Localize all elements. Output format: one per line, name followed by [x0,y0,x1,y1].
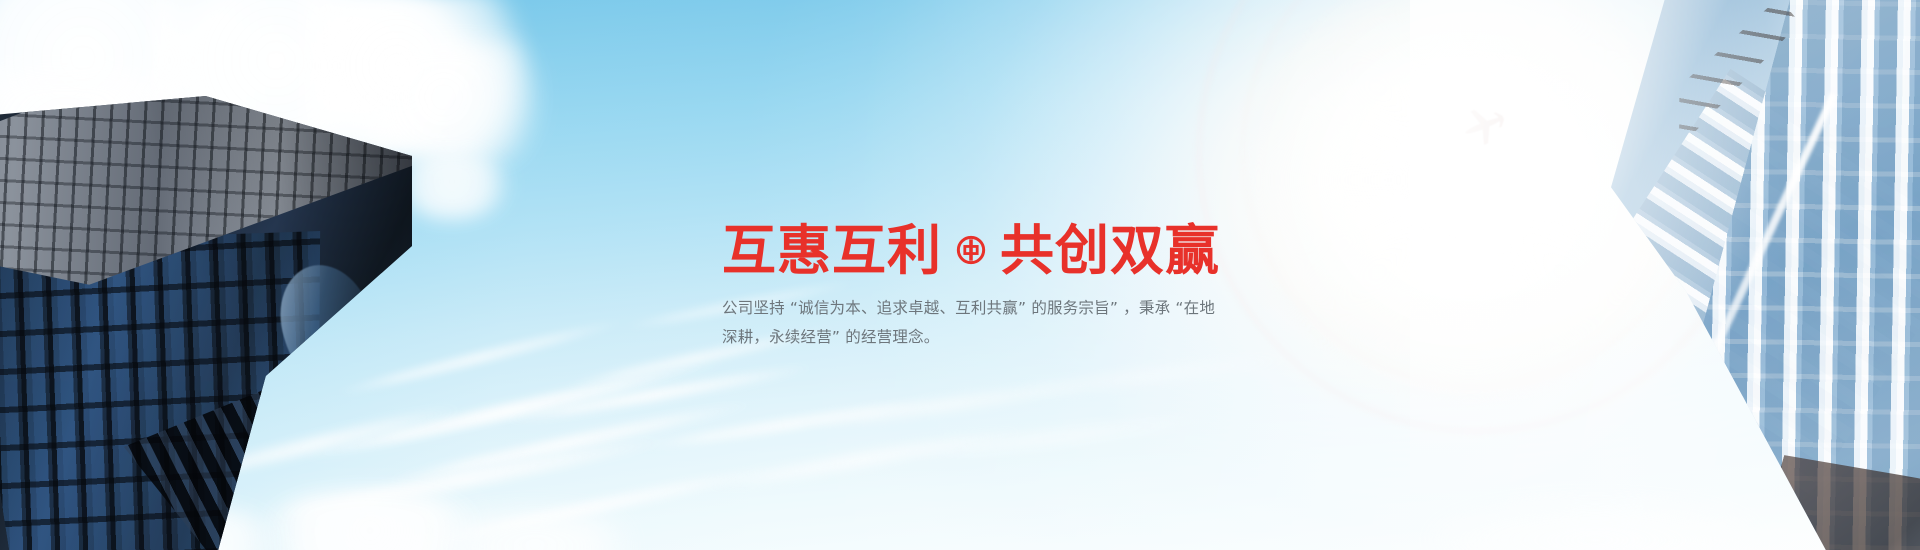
headline-right-text: 共创双赢 [1000,222,1220,278]
headline-left-text: 互惠互利 [722,222,942,278]
banner-subtitle: 公司坚持 “诚信为本、追求卓越、互利共赢” 的服务宗旨” ，秉承 “在地深耕，永… [722,294,1222,351]
hero-banner: 互惠互利 共创双赢 公司坚持 “诚信为本、追求卓越、互利共赢” 的服务宗旨” ，… [0,0,1920,550]
subtitle-line-2: 永续经营” 的经营理念。 [769,328,939,346]
left-building [0,96,412,550]
banner-copy: 互惠互利 共创双赢 公司坚持 “诚信为本、追求卓越、互利共赢” 的服务宗旨” ，… [722,222,1342,352]
coin-circle-icon [956,235,986,265]
right-building [1470,0,1920,550]
banner-headline: 互惠互利 共创双赢 [722,222,1342,278]
